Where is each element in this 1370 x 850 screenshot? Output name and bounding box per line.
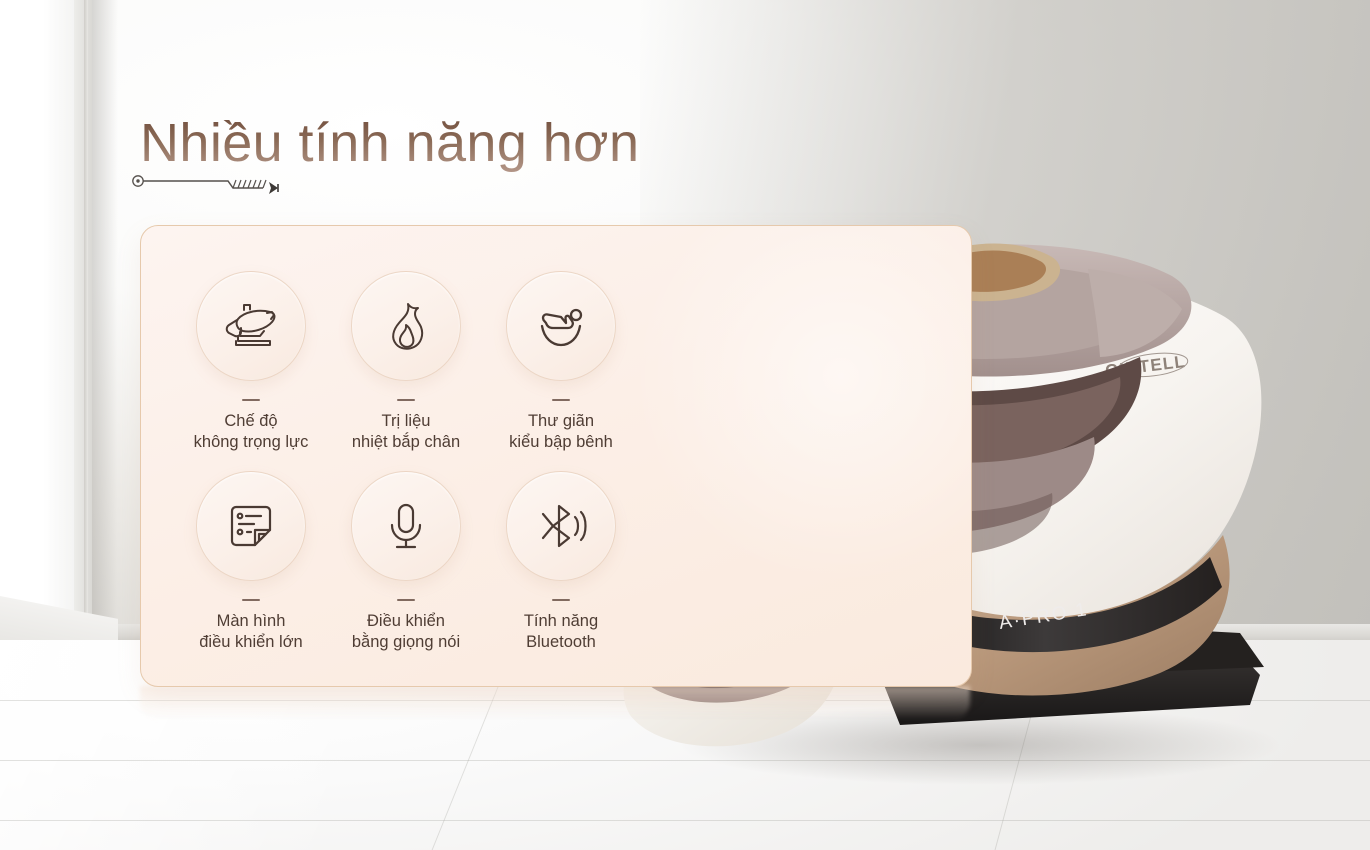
feature-icon-bubble xyxy=(351,471,461,581)
feature-label-line1: Tính năng xyxy=(481,611,641,632)
feature-item-large-display[interactable]: Màn hình điều khiển lớn xyxy=(171,471,331,653)
window-light xyxy=(0,0,74,672)
feature-label-line2: không trọng lực xyxy=(171,432,331,453)
bluetooth-icon xyxy=(531,497,591,555)
features-panel: Chế độ không trọng lực Trị liệu nhiệt bắ… xyxy=(140,225,972,687)
feature-icon-bubble xyxy=(196,271,306,381)
feature-label-line1: Điều khiển xyxy=(326,611,486,632)
features-grid: Chế độ không trọng lực Trị liệu nhiệt bắ… xyxy=(141,226,661,686)
feature-label-line2: nhiệt bắp chân xyxy=(326,432,486,453)
window-frame xyxy=(74,0,92,680)
feature-icon-bubble xyxy=(351,271,461,381)
feature-label-line2: kiểu bập bênh xyxy=(481,432,641,453)
screen-remote-icon xyxy=(223,498,279,554)
feature-item-rocking-relax[interactable]: Thư giãn kiểu bập bênh xyxy=(481,271,641,453)
feature-item-zero-gravity[interactable]: Chế độ không trọng lực xyxy=(171,271,331,453)
microphone-icon xyxy=(379,499,433,553)
feature-item-bluetooth[interactable]: Tính năng Bluetooth xyxy=(481,471,641,653)
label-divider xyxy=(552,399,570,401)
wall-corner-shadow xyxy=(92,0,118,668)
label-divider xyxy=(552,599,570,601)
feature-item-calf-heat-therapy[interactable]: Trị liệu nhiệt bắp chân xyxy=(326,271,486,453)
label-divider xyxy=(242,399,260,401)
feature-label-line1: Chế độ xyxy=(171,411,331,432)
label-divider xyxy=(397,599,415,601)
feature-label-line2: bằng giọng nói xyxy=(326,632,486,653)
panel-glow xyxy=(631,225,972,586)
window-frame-inner xyxy=(84,0,88,668)
label-divider xyxy=(242,599,260,601)
rocking-person-icon xyxy=(531,296,591,356)
page-title: Nhiều tính năng hơn xyxy=(140,112,639,174)
feature-label-line1: Trị liệu xyxy=(326,411,486,432)
feature-icon-bubble xyxy=(196,471,306,581)
arrow-line-decoration-icon xyxy=(130,172,290,196)
label-divider xyxy=(397,399,415,401)
feature-label-line1: Thư giãn xyxy=(481,411,641,432)
feature-icon-bubble xyxy=(506,271,616,381)
feature-label-line2: điều khiển lớn xyxy=(171,632,331,653)
feature-label-line1: Màn hình xyxy=(171,611,331,632)
flame-icon xyxy=(377,297,435,355)
feature-label-line2: Bluetooth xyxy=(481,632,641,653)
floor-plank-line xyxy=(0,820,1370,821)
product-feature-slide: Nhiều tính năng hơn xyxy=(0,0,1370,850)
feature-item-voice-control[interactable]: Điều khiển bằng giọng nói xyxy=(326,471,486,653)
massage-chair-icon xyxy=(220,295,282,357)
panel-reflection xyxy=(140,686,970,720)
feature-icon-bubble xyxy=(506,471,616,581)
